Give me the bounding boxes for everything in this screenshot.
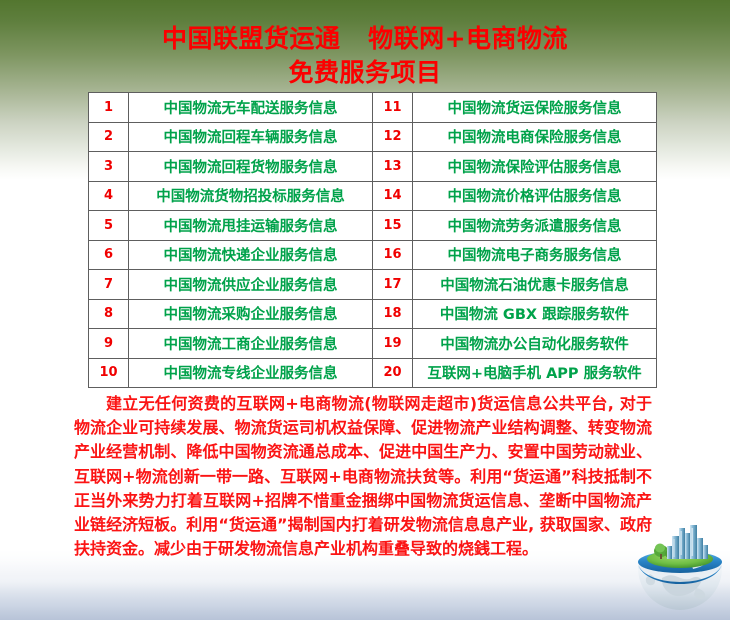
table-row: 5 中国物流甩挂运输服务信息 15 中国物流劳务派遣服务信息 xyxy=(89,211,657,241)
row-label-left: 中国物流甩挂运输服务信息 xyxy=(129,211,373,241)
row-number-right: 18 xyxy=(373,299,413,329)
slide-title: 中国联盟货运通 物联网+电商物流 免费服务项目 xyxy=(0,22,730,90)
row-label-left: 中国物流专线企业服务信息 xyxy=(129,358,373,388)
row-label-left: 中国物流供应企业服务信息 xyxy=(129,270,373,300)
row-label-left: 中国物流回程货物服务信息 xyxy=(129,152,373,182)
row-label-right: 中国物流 GBX 跟踪服务软件 xyxy=(413,299,657,329)
row-label-right: 中国物流石油优惠卡服务信息 xyxy=(413,270,657,300)
table-row: 10 中国物流专线企业服务信息 20 互联网+电脑手机 APP 服务软件 xyxy=(89,358,657,388)
service-list-table: 1 中国物流无车配送服务信息 11 中国物流货运保险服务信息 2 中国物流回程车… xyxy=(88,92,657,388)
row-label-right: 中国物流办公自动化服务软件 xyxy=(413,329,657,359)
row-number-right: 13 xyxy=(373,152,413,182)
title-line-2: 免费服务项目 xyxy=(0,56,730,90)
row-number-right: 17 xyxy=(373,270,413,300)
row-label-left: 中国物流回程车辆服务信息 xyxy=(129,122,373,152)
title-line-1: 中国联盟货运通 物联网+电商物流 xyxy=(0,22,730,56)
table-row: 6 中国物流快递企业服务信息 16 中国物流电子商务服务信息 xyxy=(89,240,657,270)
row-label-right: 互联网+电脑手机 APP 服务软件 xyxy=(413,358,657,388)
row-number-left: 1 xyxy=(89,93,129,123)
row-label-right: 中国物流货运保险服务信息 xyxy=(413,93,657,123)
row-number-right: 20 xyxy=(373,358,413,388)
row-label-left: 中国物流无车配送服务信息 xyxy=(129,93,373,123)
table-row: 4 中国物流货物招投标服务信息 14 中国物流价格评估服务信息 xyxy=(89,181,657,211)
row-number-right: 11 xyxy=(373,93,413,123)
row-label-right: 中国物流保险评估服务信息 xyxy=(413,152,657,182)
table-row: 1 中国物流无车配送服务信息 11 中国物流货运保险服务信息 xyxy=(89,93,657,123)
body-paragraph: 建立无任何资费的互联网+电商物流(物联网走超市)货运信息公共平台, 对于物流企业… xyxy=(74,392,652,561)
row-number-left: 4 xyxy=(89,181,129,211)
table-row: 3 中国物流回程货物服务信息 13 中国物流保险评估服务信息 xyxy=(89,152,657,182)
row-number-left: 10 xyxy=(89,358,129,388)
row-label-left: 中国物流工商企业服务信息 xyxy=(129,329,373,359)
table-row: 7 中国物流供应企业服务信息 17 中国物流石油优惠卡服务信息 xyxy=(89,270,657,300)
row-number-left: 3 xyxy=(89,152,129,182)
row-number-right: 15 xyxy=(373,211,413,241)
row-label-left: 中国物流货物招投标服务信息 xyxy=(129,181,373,211)
table-row: 9 中国物流工商企业服务信息 19 中国物流办公自动化服务软件 xyxy=(89,329,657,359)
row-number-left: 7 xyxy=(89,270,129,300)
row-label-right: 中国物流劳务派遣服务信息 xyxy=(413,211,657,241)
row-number-left: 9 xyxy=(89,329,129,359)
row-label-left: 中国物流采购企业服务信息 xyxy=(129,299,373,329)
row-number-right: 16 xyxy=(373,240,413,270)
row-number-left: 2 xyxy=(89,122,129,152)
row-label-right: 中国物流电子商务服务信息 xyxy=(413,240,657,270)
row-number-right: 19 xyxy=(373,329,413,359)
row-number-right: 14 xyxy=(373,181,413,211)
service-table-body: 1 中国物流无车配送服务信息 11 中国物流货运保险服务信息 2 中国物流回程车… xyxy=(89,93,657,388)
row-number-left: 6 xyxy=(89,240,129,270)
row-label-right: 中国物流价格评估服务信息 xyxy=(413,181,657,211)
row-number-left: 5 xyxy=(89,211,129,241)
table-row: 8 中国物流采购企业服务信息 18 中国物流 GBX 跟踪服务软件 xyxy=(89,299,657,329)
row-label-left: 中国物流快递企业服务信息 xyxy=(129,240,373,270)
row-number-left: 8 xyxy=(89,299,129,329)
row-number-right: 12 xyxy=(373,122,413,152)
table-row: 2 中国物流回程车辆服务信息 12 中国物流电商保险服务信息 xyxy=(89,122,657,152)
row-label-right: 中国物流电商保险服务信息 xyxy=(413,122,657,152)
slide-canvas: 中国联盟货运通 物联网+电商物流 免费服务项目 1 中国物流无车配送服务信息 1… xyxy=(0,0,730,620)
